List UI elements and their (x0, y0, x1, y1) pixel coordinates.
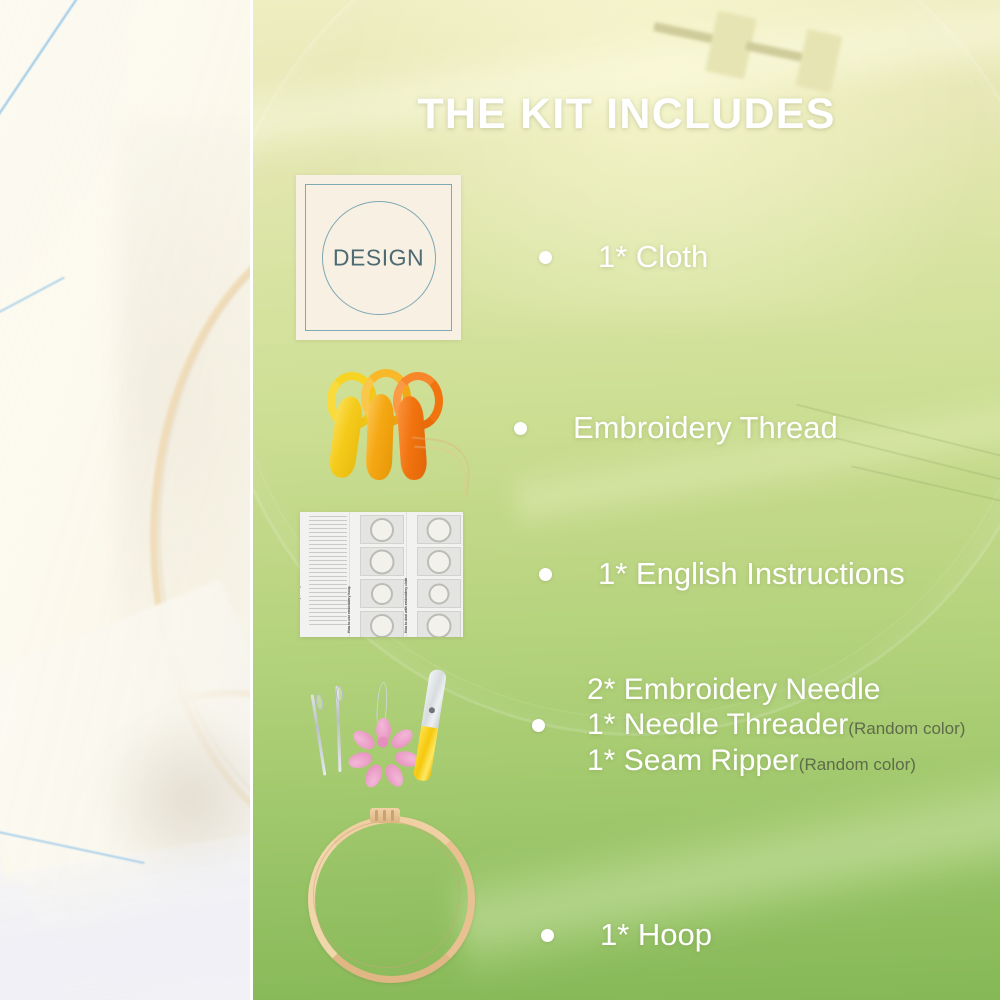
embroidery-thread-image (321, 368, 461, 488)
needle-eye-icon (336, 686, 343, 702)
sheet-photo-cell (360, 579, 404, 608)
tool-line-needle-text: 2* Embroidery Needle (587, 673, 880, 706)
sheet-column-3: How to deal with embroidery cloth (407, 512, 463, 637)
sheet-column-1: How to thread and separate yarn (300, 512, 350, 637)
sheet-photo-cell (360, 611, 404, 637)
bullet-icon (532, 719, 545, 732)
hoop-ring-inner (313, 821, 460, 968)
kit-item-label-cloth: 1* Cloth (598, 239, 708, 276)
kit-item-hoop: 1* Hoop (308, 808, 712, 973)
kit-item-tools-labels: 2* Embroidery Needle 1* Needle Threader(… (587, 672, 965, 778)
kit-item-label-thread: Embroidery Thread (573, 410, 838, 447)
sheet-heading-2: How to use embroidery hoop (347, 586, 351, 633)
needle-threader-ripper-image (295, 660, 470, 790)
bullet-icon (541, 929, 554, 942)
kit-item-cloth: DESIGN 1* Cloth (296, 175, 708, 340)
sheet-text-lines-1 (309, 516, 347, 634)
tool-line-ripper: 1* Seam Ripper(Random color) (587, 743, 965, 778)
product-infographic: THE KIT INCLUDES DESIGN 1* Cloth (0, 0, 1000, 1000)
bullet-icon (539, 568, 552, 581)
kit-contents-panel: THE KIT INCLUDES DESIGN 1* Cloth (253, 0, 1000, 1000)
tool-line-needle: 2* Embroidery Needle (587, 672, 965, 707)
sheet-photo-cell (417, 579, 461, 608)
page-title: THE KIT INCLUDES (253, 90, 1000, 139)
threader-center (378, 737, 389, 748)
bullet-icon (514, 422, 527, 435)
sheet-photo-cell (417, 611, 461, 637)
seam-ripper-icon (406, 668, 464, 791)
cloth-swatch-image: DESIGN (296, 175, 461, 340)
needle-threader-icon (363, 722, 403, 762)
sheet-heading-1: How to thread and separate yarn (300, 580, 301, 633)
tool-line-threader-text: 1* Needle Threader (587, 708, 848, 741)
sheet-photo-cell (417, 515, 461, 544)
tool-line-threader-note: (Random color) (848, 719, 965, 738)
embroidery-hoop-image (308, 808, 473, 973)
tool-line-ripper-text: 1* Seam Ripper (587, 744, 799, 777)
sheet-photo-grid-2 (360, 515, 404, 634)
kit-item-label-instructions: 1* English Instructions (598, 556, 905, 593)
bullet-icon (539, 251, 552, 264)
ripper-cap (421, 669, 447, 733)
sheet-photo-cell (417, 547, 461, 576)
instruction-sheet-image: How to thread and separate yarn How to u… (300, 512, 463, 637)
tool-line-threader: 1* Needle Threader(Random color) (587, 707, 965, 742)
kit-item-instructions: How to thread and separate yarn How to u… (300, 512, 905, 637)
kit-item-thread: Embroidery Thread (321, 368, 838, 488)
sheet-heading-3: How to deal with embroidery cloth (404, 578, 408, 633)
tool-line-ripper-note: (Random color) (799, 755, 916, 774)
sheet-photo-grid-3 (417, 515, 461, 634)
kit-item-tools: 2* Embroidery Needle 1* Needle Threader(… (295, 660, 965, 790)
needle-eye-icon (315, 694, 324, 711)
sheet-column-2: How to use embroidery hoop (350, 512, 407, 637)
kit-item-label-hoop: 1* Hoop (600, 917, 712, 954)
left-photo-panel (0, 0, 252, 1000)
panel-divider (250, 0, 253, 1000)
hoop-bracket-icon (370, 808, 400, 823)
thread-skein-amber (366, 394, 395, 481)
sheet-photo-cell (360, 515, 404, 544)
cloth-design-label: DESIGN (333, 244, 424, 271)
ripper-handle (413, 726, 438, 782)
sheet-photo-cell (360, 547, 404, 576)
